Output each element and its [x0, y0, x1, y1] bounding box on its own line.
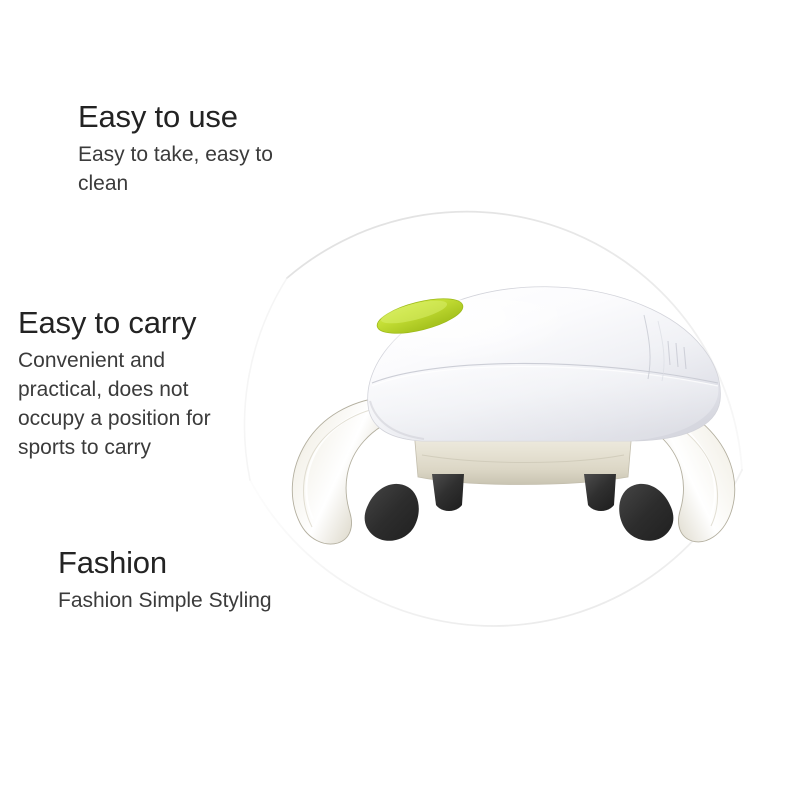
- feature-block-easy-to-use: Easy to use Easy to take, easy to clean: [78, 100, 328, 199]
- foot-outer-left: [365, 484, 419, 541]
- feature-body-easy-to-use: Easy to take, easy to clean: [78, 141, 328, 199]
- feature-title-fashion: Fashion: [58, 546, 288, 581]
- feature-title-easy-to-carry: Easy to carry: [18, 306, 246, 341]
- feature-block-fashion: Fashion Fashion Simple Styling: [58, 546, 288, 616]
- feature-title-easy-to-use: Easy to use: [78, 100, 328, 135]
- product-image: [272, 255, 772, 565]
- feature-body-easy-to-carry: Convenient and practical, does not occup…: [18, 347, 246, 463]
- feature-block-easy-to-carry: Easy to carry Convenient and practical, …: [18, 306, 246, 463]
- foot-inner-left: [432, 474, 464, 511]
- infographic-canvas: Easy to use Easy to take, easy to clean …: [0, 0, 800, 800]
- feature-body-fashion: Fashion Simple Styling: [58, 587, 288, 616]
- foot-outer-right: [619, 484, 673, 541]
- foot-inner-right: [584, 474, 616, 511]
